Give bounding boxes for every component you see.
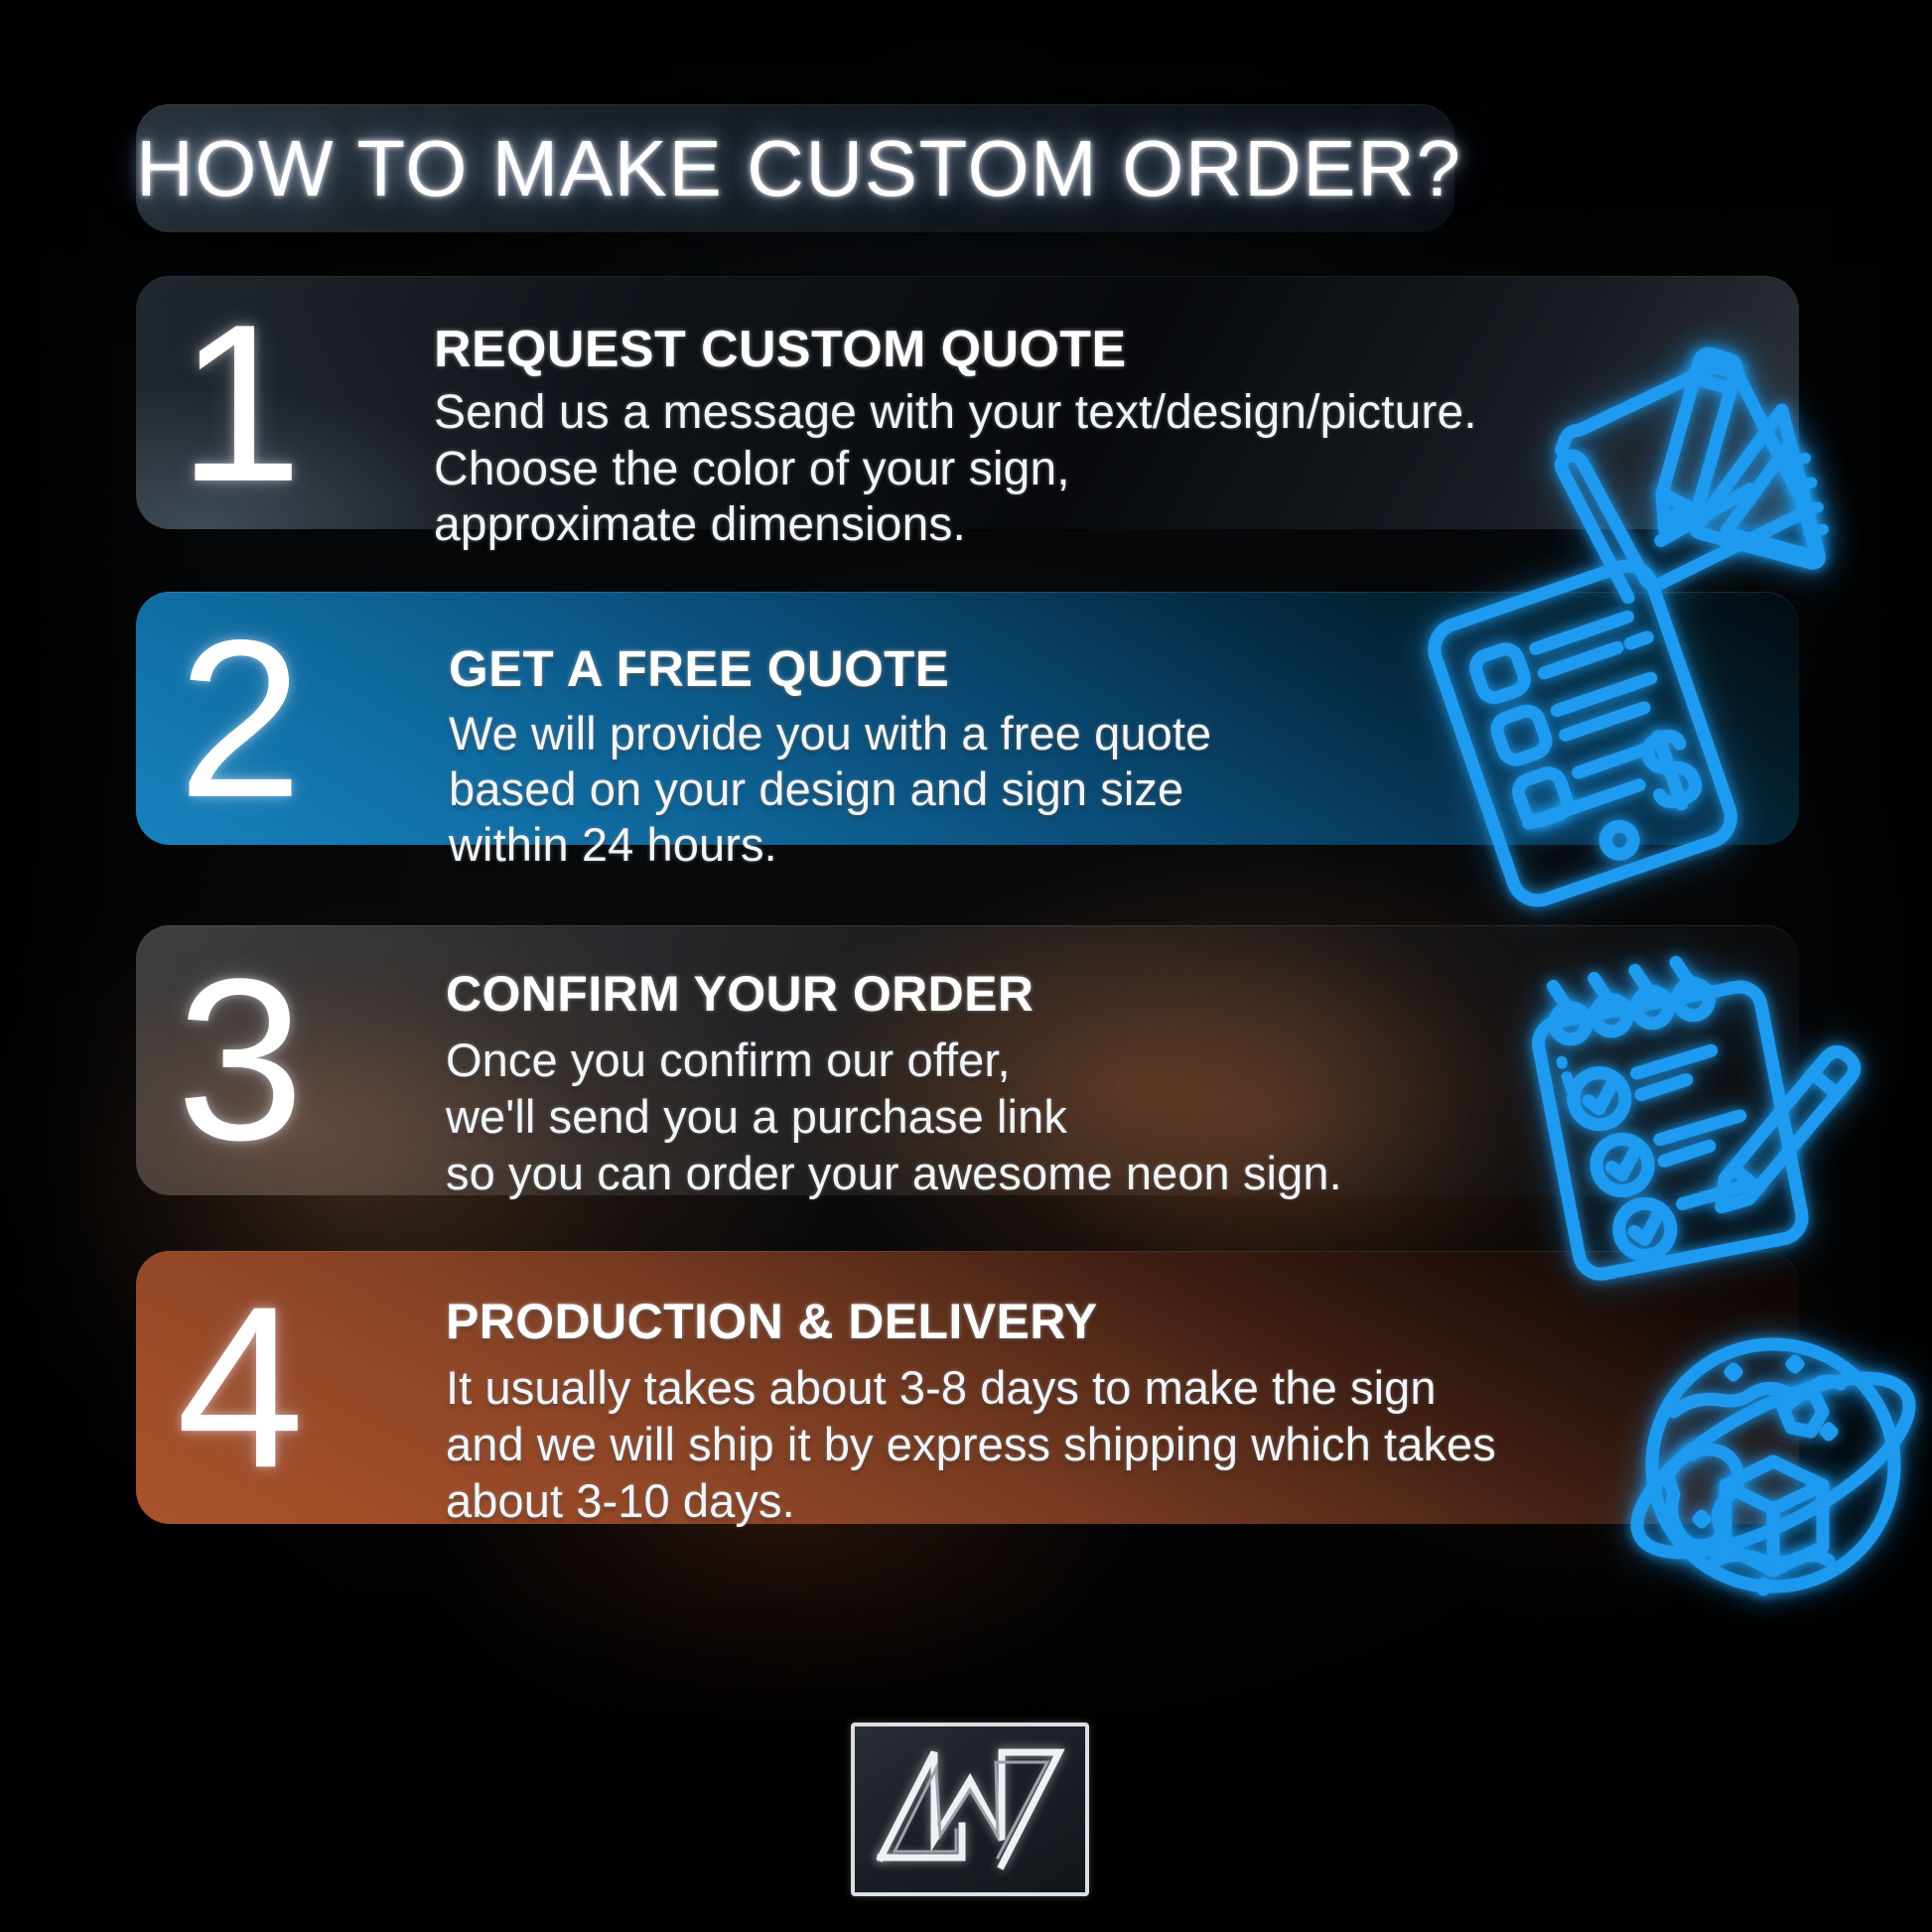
step-body-4: It usually takes about 3-8 days to make …: [446, 1360, 1769, 1530]
step-body-line: Choose the color of your sign,: [434, 442, 1769, 498]
step-text-3: CONFIRM YOUR ORDER Once you confirm our …: [446, 965, 1769, 1202]
infographic-canvas: HOW TO MAKE CUSTOM ORDER? 1 REQUEST CUST…: [0, 0, 1932, 1932]
step-body-line: Once you confirm our offer,: [446, 1033, 1769, 1089]
step-body-line: We will provide you with a free quote: [449, 706, 1769, 761]
step-card-3[interactable]: 3 CONFIRM YOUR ORDER Once you confirm ou…: [136, 925, 1799, 1195]
step-card-1[interactable]: 1 REQUEST CUSTOM QUOTE Send us a message…: [136, 276, 1799, 529]
step-number-3: 3: [146, 961, 335, 1160]
step-body-line: we'll send you a purchase link: [446, 1089, 1769, 1146]
ln-monogram-logo[interactable]: [851, 1723, 1089, 1896]
step-body-line: so you can order your awesome neon sign.: [446, 1146, 1769, 1202]
step-body-line: and we will ship it by express shipping …: [446, 1417, 1769, 1473]
step-body-line: within 24 hours.: [449, 817, 1769, 873]
step-heading-1: REQUEST CUSTOM QUOTE: [434, 320, 1769, 379]
step-heading-3: CONFIRM YOUR ORDER: [446, 965, 1769, 1023]
step-body-line: It usually takes about 3-8 days to make …: [446, 1360, 1769, 1417]
step-text-2: GET A FREE QUOTE We will provide you wit…: [449, 639, 1769, 873]
step-body-3: Once you confirm our offer, we'll send y…: [446, 1033, 1769, 1202]
step-text-1: REQUEST CUSTOM QUOTE Send us a message w…: [434, 320, 1769, 554]
title-banner: HOW TO MAKE CUSTOM ORDER?: [136, 104, 1454, 232]
step-heading-2: GET A FREE QUOTE: [449, 639, 1769, 698]
step-number-4: 4: [146, 1289, 335, 1487]
logo-mark: [851, 1723, 1089, 1896]
step-text-4: PRODUCTION & DELIVERY It usually takes a…: [446, 1293, 1769, 1530]
step-card-4[interactable]: 4 PRODUCTION & DELIVERY It usually takes…: [136, 1251, 1799, 1524]
step-number-2: 2: [146, 621, 335, 814]
step-body-1: Send us a message with your text/design/…: [434, 385, 1769, 554]
step-body-line: approximate dimensions.: [434, 497, 1769, 554]
step-body-2: We will provide you with a free quote ba…: [449, 706, 1769, 873]
step-number-1: 1: [146, 306, 335, 498]
step-body-line: about 3-10 days.: [446, 1473, 1769, 1530]
step-heading-4: PRODUCTION & DELIVERY: [446, 1293, 1769, 1350]
page-title: HOW TO MAKE CUSTOM ORDER?: [136, 123, 1454, 214]
step-body-line: Send us a message with your text/design/…: [434, 385, 1769, 442]
step-card-2[interactable]: 2 GET A FREE QUOTE We will provide you w…: [136, 592, 1799, 845]
step-body-line: based on your design and sign size: [449, 761, 1769, 817]
